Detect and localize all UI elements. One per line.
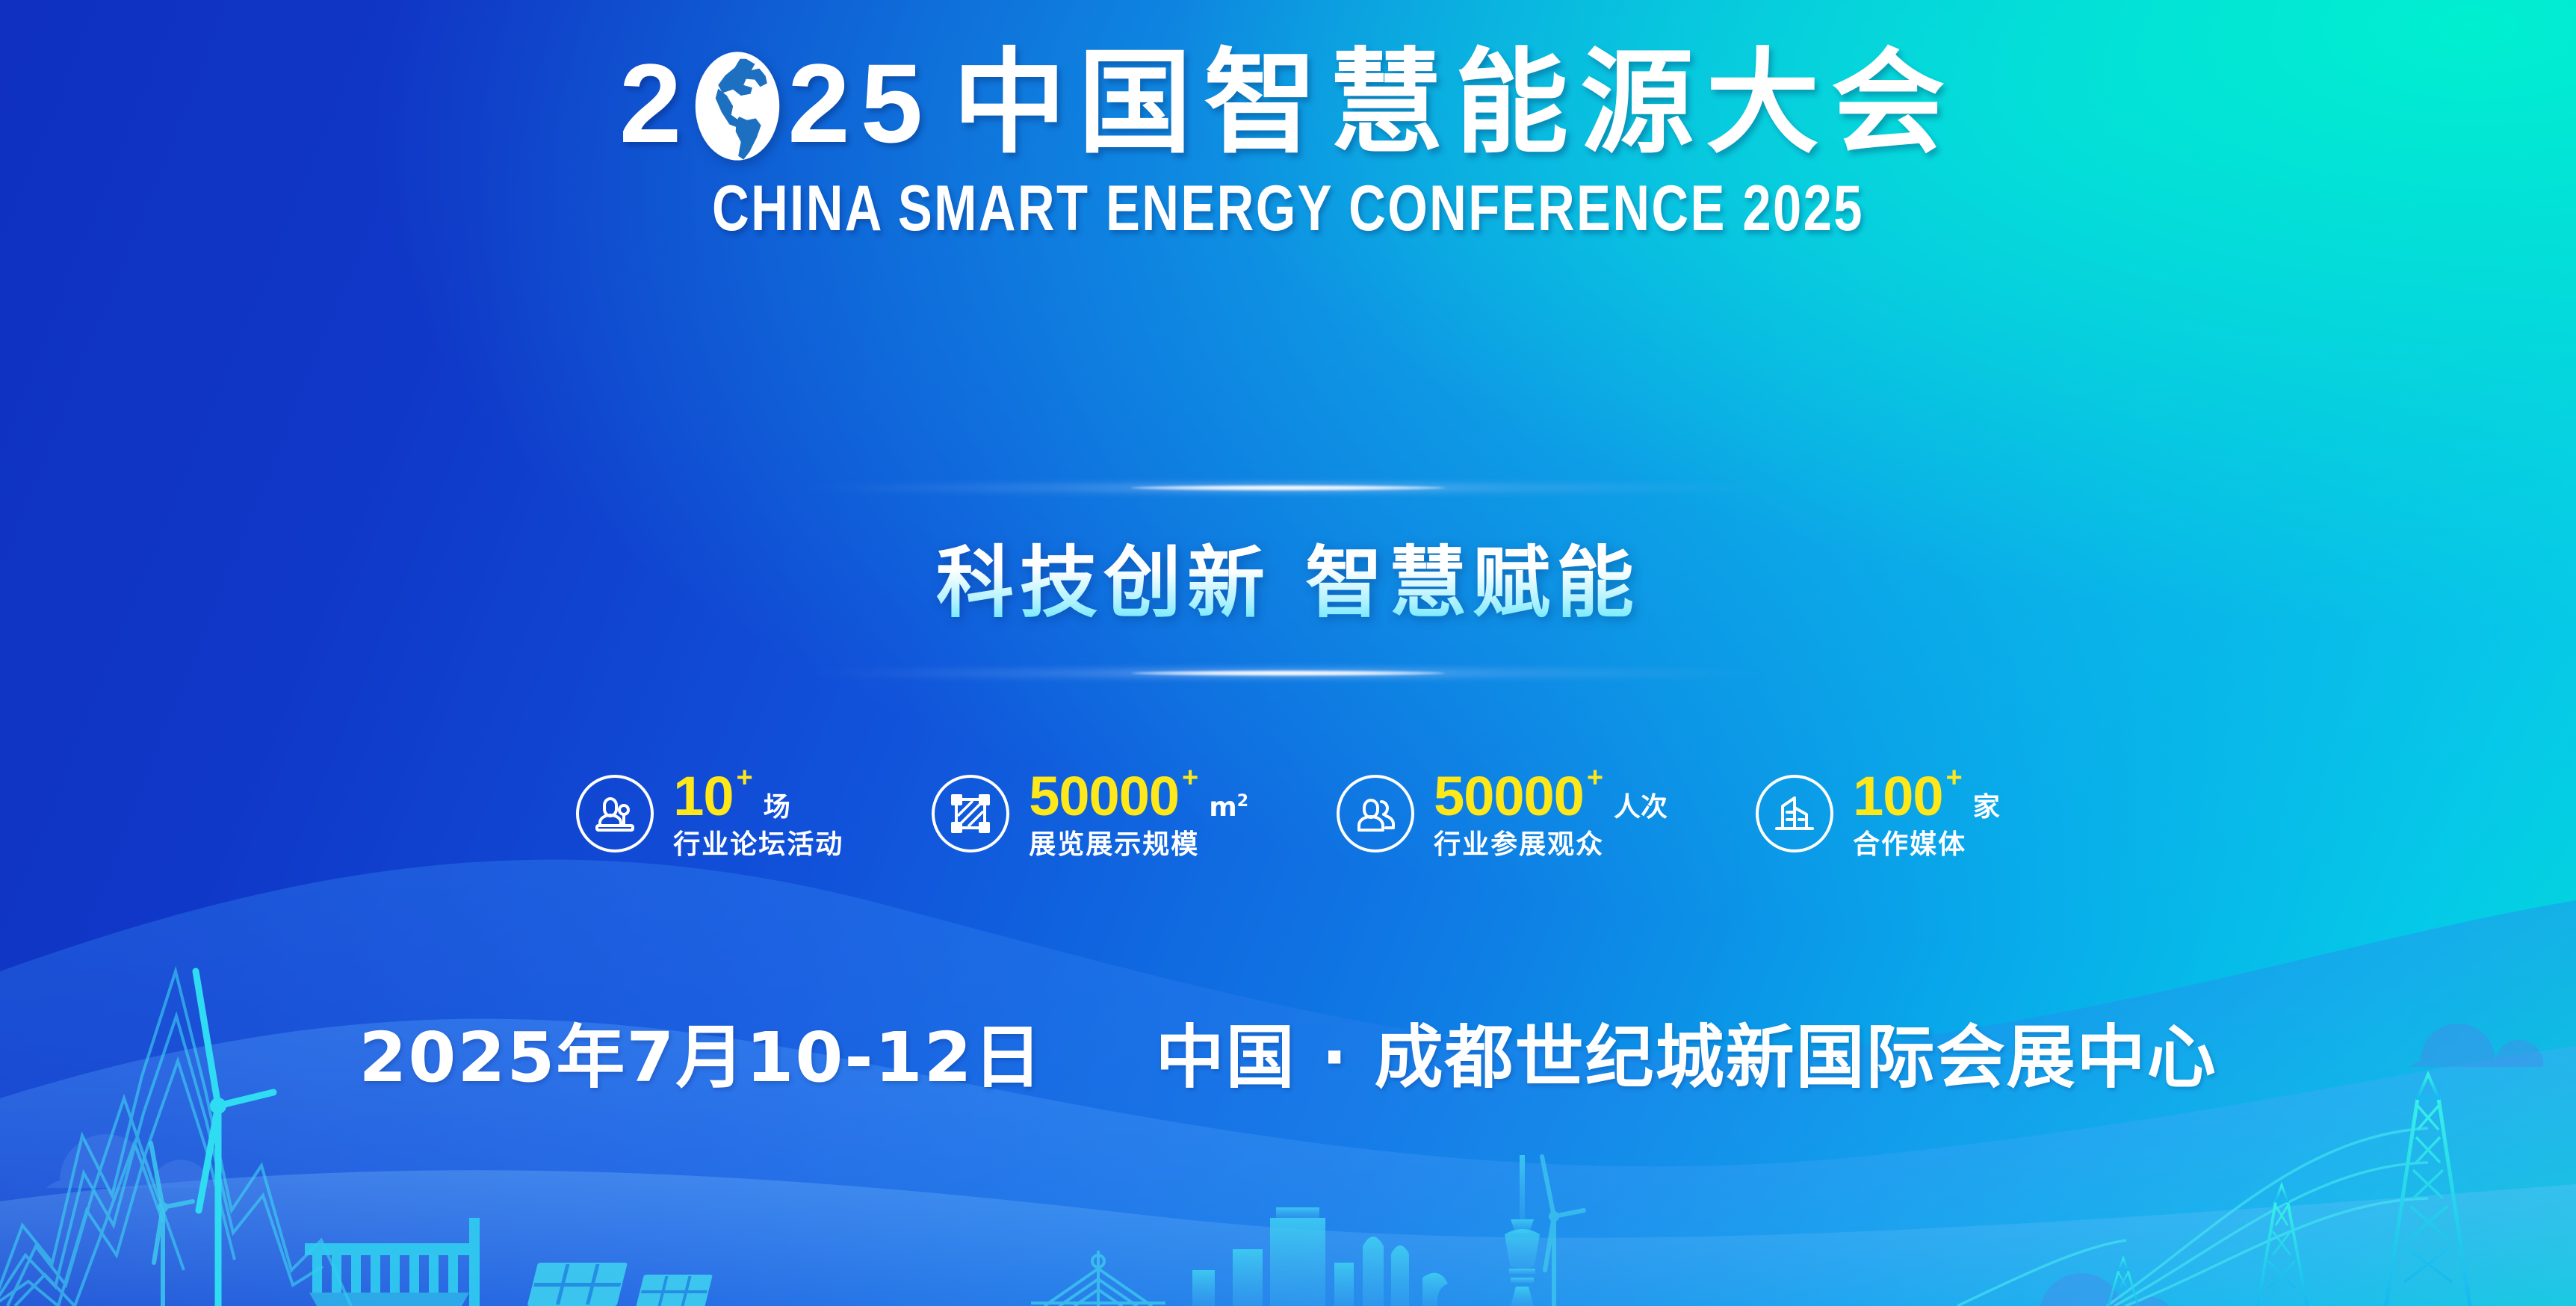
- stat-number: 10: [673, 770, 733, 824]
- slogan-section: 科技创新智慧赋能: [0, 478, 2576, 683]
- stat-unit: 家: [1973, 794, 2000, 821]
- solar-panel-icon: [527, 1263, 713, 1306]
- stat-unit-superscript: 2: [1237, 792, 1248, 811]
- stat-plus-sign: +: [1587, 764, 1603, 792]
- page-title: 中国智慧能源大会: [953, 46, 1957, 160]
- conference-banner: 2 25 中国智慧能源大会 CHINA SMART ENERGY CONFERE…: [0, 0, 2576, 1306]
- globe-icon: [693, 50, 781, 162]
- banner-footer: 2025年7月10-12日 中国 · 成都世纪城新国际会展中心: [0, 1024, 2576, 1092]
- stat-text-visitors: 50000 + 人次 行业参展观众: [1434, 770, 1668, 858]
- stat-number: 100: [1853, 770, 1942, 824]
- stat-item-exhibition-area: 50000 + m2 展览展示规模: [932, 770, 1248, 858]
- stats-row: 10 + 场 行业论坛活动 50000: [0, 770, 2576, 858]
- main-title-row: 2 25 中国智慧能源大会: [0, 46, 2576, 160]
- banner-header: 2 25 中国智慧能源大会 CHINA SMART ENERGY CONFERE…: [0, 46, 2576, 241]
- slogan-part-2: 智慧赋能: [1305, 537, 1640, 628]
- stat-label: 合作媒体: [1853, 832, 2000, 858]
- topographic-contour-decor: [0, 971, 351, 1306]
- event-venue: 中国 · 成都世纪城新国际会展中心: [1156, 1024, 2217, 1092]
- divider-bottom: [631, 663, 1945, 683]
- stat-unit: m2: [1209, 793, 1248, 821]
- stat-value-row: 100 + 家: [1853, 770, 2000, 824]
- hydro-dam-icon: [305, 1218, 480, 1306]
- year-digits-right: 25: [787, 47, 933, 159]
- power-pylon-icon: [2083, 1074, 2554, 1306]
- stat-plus-sign: +: [1946, 764, 1963, 792]
- divider-top: [631, 478, 1945, 498]
- wind-turbine-icon: [196, 971, 273, 1306]
- slogan-text: 科技创新智慧赋能: [936, 539, 1640, 626]
- stat-value-row: 50000 + 人次: [1434, 770, 1668, 824]
- title-english: CHINA SMART ENERGY CONFERENCE 2025: [258, 176, 2318, 241]
- stat-unit: 场: [764, 794, 790, 821]
- wind-turbine-icon: [1542, 1157, 1584, 1306]
- media-building-icon: [1756, 775, 1833, 852]
- year-digit-left: 2: [619, 47, 692, 159]
- tv-tower-icon: [1505, 1155, 1540, 1306]
- stat-text-exhibition-area: 50000 + m2 展览展示规模: [1029, 770, 1248, 858]
- stat-item-visitors: 50000 + 人次 行业参展观众: [1337, 770, 1668, 858]
- stat-item-forums: 10 + 场 行业论坛活动: [576, 770, 843, 858]
- stat-label: 展览展示规模: [1029, 832, 1248, 858]
- exhibition-area-icon: [932, 775, 1009, 852]
- stat-value-row: 10 + 场: [673, 770, 843, 824]
- stat-label: 行业论坛活动: [673, 832, 843, 858]
- forum-people-icon: [576, 775, 654, 852]
- stat-number: 50000: [1434, 770, 1584, 824]
- event-date: 2025年7月10-12日: [359, 1024, 1043, 1092]
- cable-bridge-icon: [1031, 1251, 1165, 1306]
- stat-plus-sign: +: [737, 764, 753, 792]
- stat-number: 50000: [1029, 770, 1179, 824]
- stat-text-media: 100 + 家 合作媒体: [1853, 770, 2000, 858]
- stat-value-row: 50000 + m2: [1029, 770, 1248, 824]
- power-line-decor: [1957, 1128, 2428, 1306]
- stat-label: 行业参展观众: [1434, 832, 1668, 858]
- stat-unit: 人次: [1614, 794, 1668, 821]
- stat-plus-sign: +: [1182, 764, 1198, 792]
- slogan-part-1: 科技创新: [936, 537, 1271, 628]
- city-skyline-decor: [1192, 1207, 1448, 1306]
- stat-item-media: 100 + 家 合作媒体: [1756, 770, 2000, 858]
- visitors-group-icon: [1337, 775, 1414, 852]
- stat-text-forums: 10 + 场 行业论坛活动: [673, 770, 843, 858]
- wind-turbine-icon: [151, 1143, 193, 1306]
